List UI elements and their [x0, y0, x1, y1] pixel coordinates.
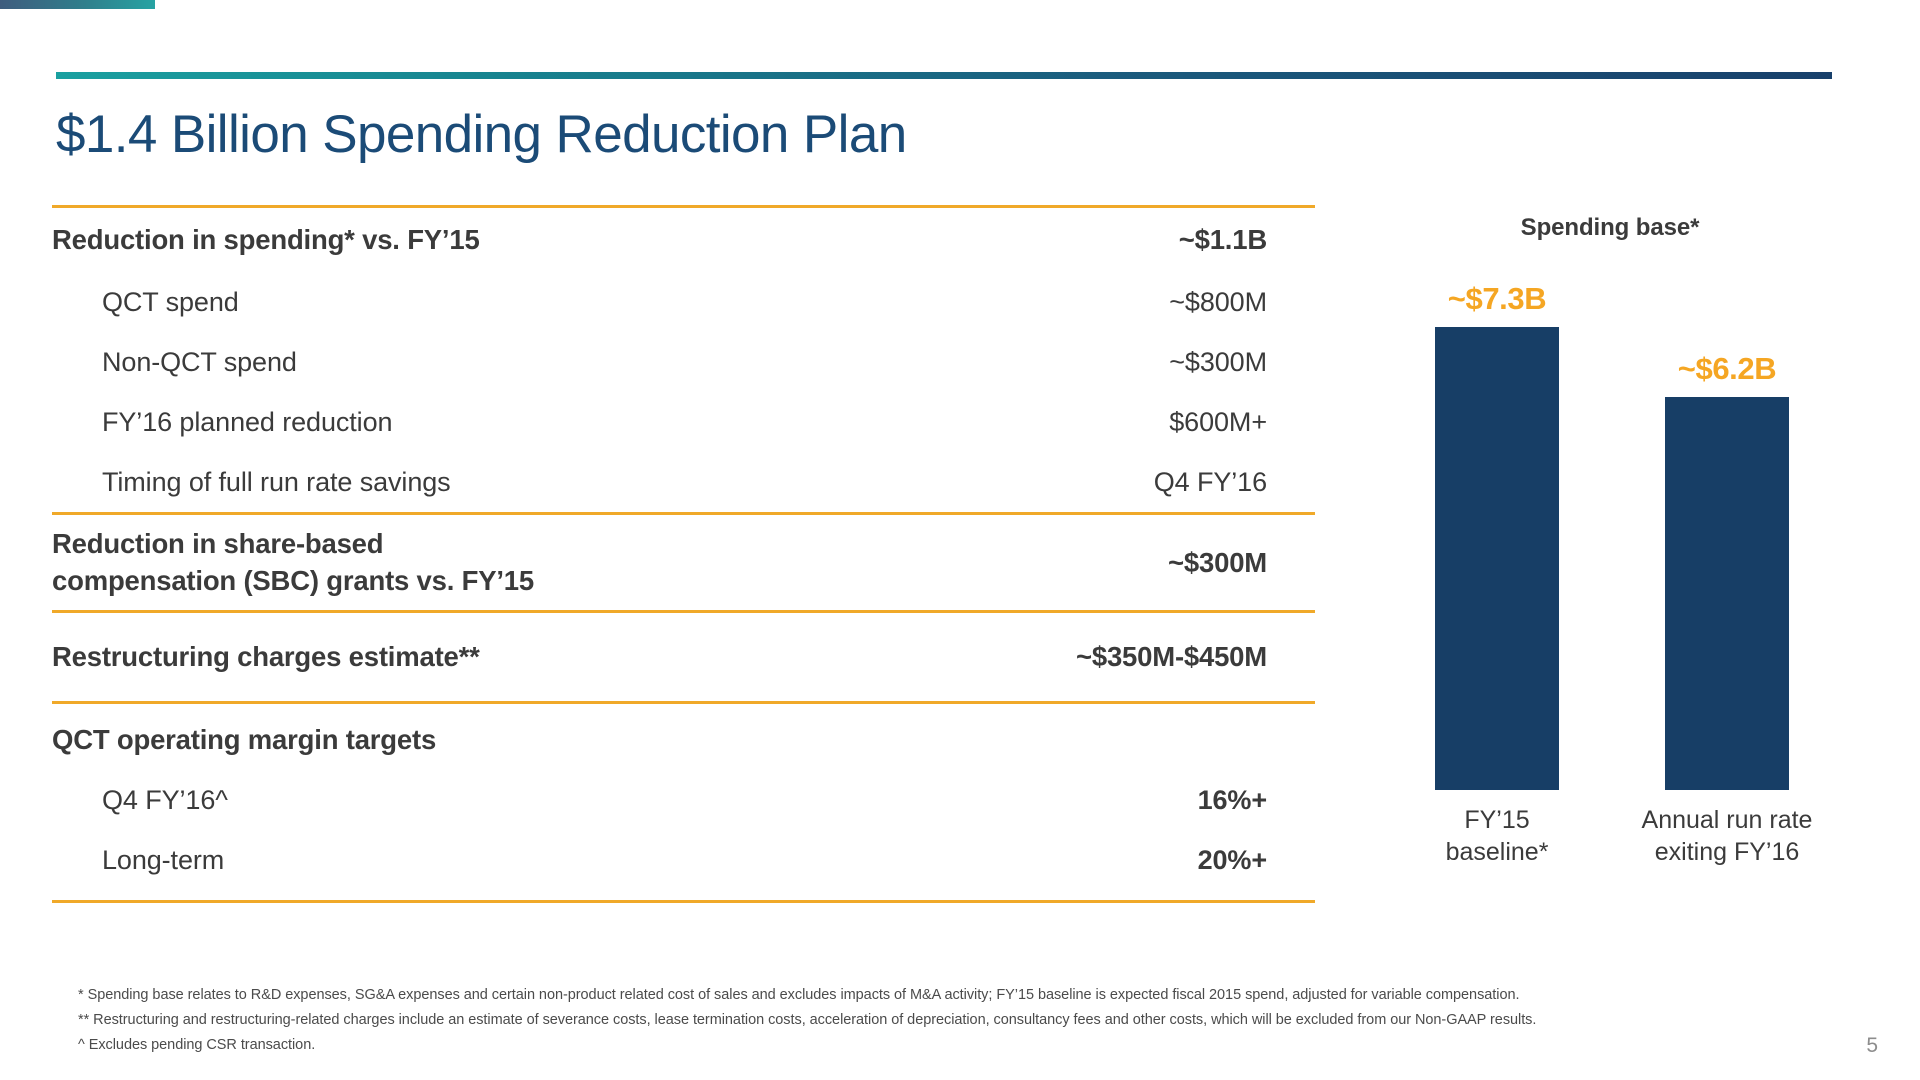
table-divider — [52, 900, 1315, 903]
axis-tick-label: FY’15 baseline* — [1382, 804, 1612, 868]
bar-value-label: ~$7.3B — [1448, 281, 1546, 317]
row-label: Restructuring charges estimate** — [52, 641, 480, 673]
row-label: FY’16 planned reduction — [102, 407, 392, 438]
page-title: $1.4 Billion Spending Reduction Plan — [56, 104, 907, 165]
row-label: Timing of full run rate savings — [102, 467, 451, 498]
footnotes: * Spending base relates to R&D expenses,… — [78, 983, 1798, 1058]
corner-accent-bar — [0, 0, 155, 9]
bar — [1665, 397, 1789, 790]
bar — [1435, 327, 1559, 790]
footnote-1: * Spending base relates to R&D expenses,… — [78, 983, 1798, 1008]
row-label: Reduction in share-based compensation (S… — [52, 526, 534, 599]
chart-axis-labels: FY’15 baseline* Annual run rate exiting … — [1360, 804, 1860, 884]
row-value: Q4 FY’16 — [1154, 467, 1315, 498]
axis-tick-label: Annual run rate exiting FY’16 — [1612, 804, 1842, 868]
chart-plot-area: ~$7.3B ~$6.2B — [1360, 270, 1860, 790]
spending-base-chart: Spending base* ~$7.3B ~$6.2B FY’15 basel… — [1360, 214, 1860, 894]
table-row: Timing of full run rate savings Q4 FY’16 — [52, 452, 1315, 512]
row-label: QCT spend — [102, 287, 239, 318]
spending-table: Reduction in spending* vs. FY’15 ~$1.1B … — [52, 205, 1315, 903]
row-label: Reduction in spending* vs. FY’15 — [52, 224, 480, 256]
row-label: Long-term — [102, 845, 224, 876]
row-label: Q4 FY’16^ — [102, 785, 228, 816]
bar-group: ~$6.2B — [1612, 270, 1842, 790]
table-row: Q4 FY’16^ 16%+ — [52, 770, 1315, 830]
row-value: ~$1.1B — [1179, 224, 1315, 256]
chart-title: Spending base* — [1360, 214, 1860, 242]
table-row: QCT spend ~$800M — [52, 272, 1315, 332]
row-value: ~$350M-$450M — [1076, 641, 1315, 673]
row-value: ~$300M — [1168, 547, 1315, 579]
bar-group: ~$7.3B — [1382, 270, 1612, 790]
table-row: Reduction in share-based compensation (S… — [52, 515, 1315, 610]
row-value: $600M+ — [1169, 407, 1315, 438]
table-row: Restructuring charges estimate** ~$350M-… — [52, 613, 1315, 701]
row-value: 16%+ — [1198, 785, 1315, 816]
page-number: 5 — [1866, 1034, 1878, 1058]
table-row: Reduction in spending* vs. FY’15 ~$1.1B — [52, 208, 1315, 272]
table-row: Long-term 20%+ — [52, 830, 1315, 890]
table-row: FY’16 planned reduction $600M+ — [52, 392, 1315, 452]
header-rule — [56, 72, 1832, 79]
row-label: QCT operating margin targets — [52, 724, 436, 756]
table-row: QCT operating margin targets — [52, 704, 1315, 770]
footnote-3: ^ Excludes pending CSR transaction. — [78, 1033, 1798, 1058]
table-row: Non-QCT spend ~$300M — [52, 332, 1315, 392]
row-label: Non-QCT spend — [102, 347, 297, 378]
row-value: ~$300M — [1169, 347, 1315, 378]
row-value: 20%+ — [1198, 845, 1315, 876]
bar-value-label: ~$6.2B — [1678, 351, 1776, 387]
footnote-2: ** Restructuring and restructuring-relat… — [78, 1008, 1798, 1033]
row-value: ~$800M — [1169, 287, 1315, 318]
